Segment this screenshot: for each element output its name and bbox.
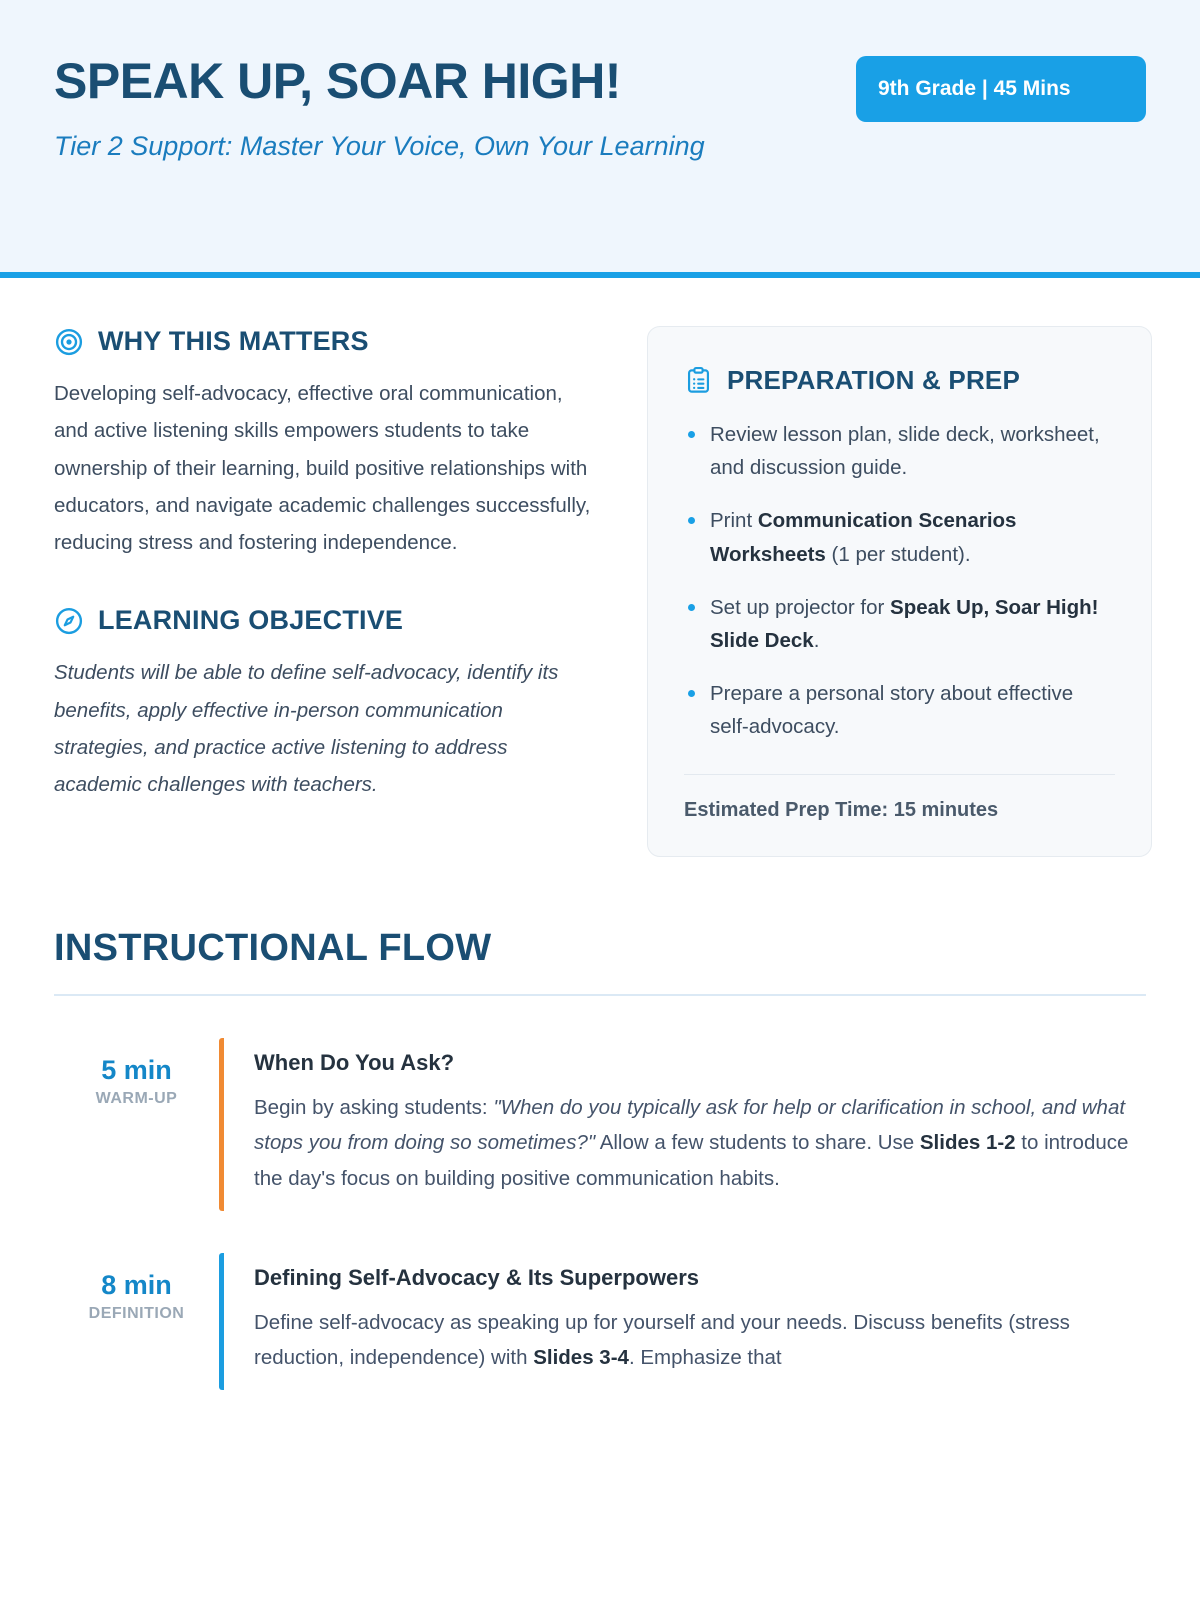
learning-objective-text: Students will be able to define self-adv… — [54, 654, 599, 803]
learning-objective-title: LEARNING OBJECTIVE — [98, 605, 403, 636]
prep-list-item: Print Communication Scenarios Worksheets… — [684, 504, 1115, 570]
flow-step: 8 minDEFINITIONDefining Self-Advocacy & … — [54, 1253, 1146, 1390]
instructional-flow-title: INSTRUCTIONAL FLOW — [54, 927, 1146, 970]
page-title: SPEAK UP, SOAR HIGH! — [54, 54, 705, 108]
learning-objective-header: LEARNING OBJECTIVE — [54, 605, 599, 636]
why-this-matters-title: WHY THIS MATTERS — [98, 326, 369, 357]
clipboard-icon — [684, 366, 713, 395]
prep-list-item: Prepare a personal story about effective… — [684, 677, 1115, 743]
left-column: WHY THIS MATTERS Developing self-advocac… — [54, 326, 599, 804]
header-text-group: SPEAK UP, SOAR HIGH! Tier 2 Support: Mas… — [54, 48, 705, 165]
flow-step-list: 5 minWARM-UPWhen Do You Ask?Begin by ask… — [54, 1038, 1146, 1390]
flow-step-body: When Do You Ask?Begin by asking students… — [219, 1038, 1146, 1211]
flow-step-kind: DEFINITION — [54, 1305, 219, 1323]
flow-divider — [54, 994, 1146, 996]
bullseye-icon — [54, 327, 84, 357]
flow-step-title: Defining Self-Advocacy & Its Superpowers — [254, 1265, 1146, 1291]
page-subtitle: Tier 2 Support: Master Your Voice, Own Y… — [54, 128, 705, 165]
page-header: SPEAK UP, SOAR HIGH! Tier 2 Support: Mas… — [0, 0, 1200, 278]
right-column: PREPARATION & PREP Review lesson plan, s… — [647, 326, 1152, 857]
flow-step-body: Defining Self-Advocacy & Its Superpowers… — [219, 1253, 1146, 1390]
prep-list-item: Set up projector for Speak Up, Soar High… — [684, 591, 1115, 657]
why-this-matters-header: WHY THIS MATTERS — [54, 326, 599, 357]
compass-icon — [54, 606, 84, 636]
preparation-header: PREPARATION & PREP — [684, 365, 1115, 396]
section-spacer — [54, 561, 599, 605]
main-content: WHY THIS MATTERS Developing self-advocac… — [0, 278, 1200, 857]
preparation-card: PREPARATION & PREP Review lesson plan, s… — [647, 326, 1152, 857]
preparation-list: Review lesson plan, slide deck, workshee… — [684, 418, 1115, 744]
flow-step-kind: WARM-UP — [54, 1090, 219, 1108]
flow-step-time-column: 8 minDEFINITION — [54, 1253, 219, 1390]
estimated-prep-time: Estimated Prep Time: 15 minutes — [684, 799, 1115, 822]
flow-step-duration: 8 min — [54, 1271, 219, 1301]
flow-step-time-column: 5 minWARM-UP — [54, 1038, 219, 1211]
flow-step-text: Define self-advocacy as speaking up for … — [254, 1305, 1146, 1376]
instructional-flow-section: INSTRUCTIONAL FLOW 5 minWARM-UPWhen Do Y… — [0, 857, 1200, 1390]
flow-step-title: When Do You Ask? — [254, 1050, 1146, 1076]
flow-step-text: Begin by asking students: "When do you t… — [254, 1090, 1146, 1197]
why-this-matters-text: Developing self-advocacy, effective oral… — [54, 375, 599, 561]
flow-step: 5 minWARM-UPWhen Do You Ask?Begin by ask… — [54, 1038, 1146, 1211]
preparation-title: PREPARATION & PREP — [727, 365, 1020, 396]
flow-step-duration: 5 min — [54, 1056, 219, 1086]
prep-list-item: Review lesson plan, slide deck, workshee… — [684, 418, 1115, 484]
grade-duration-badge: 9th Grade | 45 Mins — [856, 56, 1146, 122]
card-divider — [684, 774, 1115, 775]
